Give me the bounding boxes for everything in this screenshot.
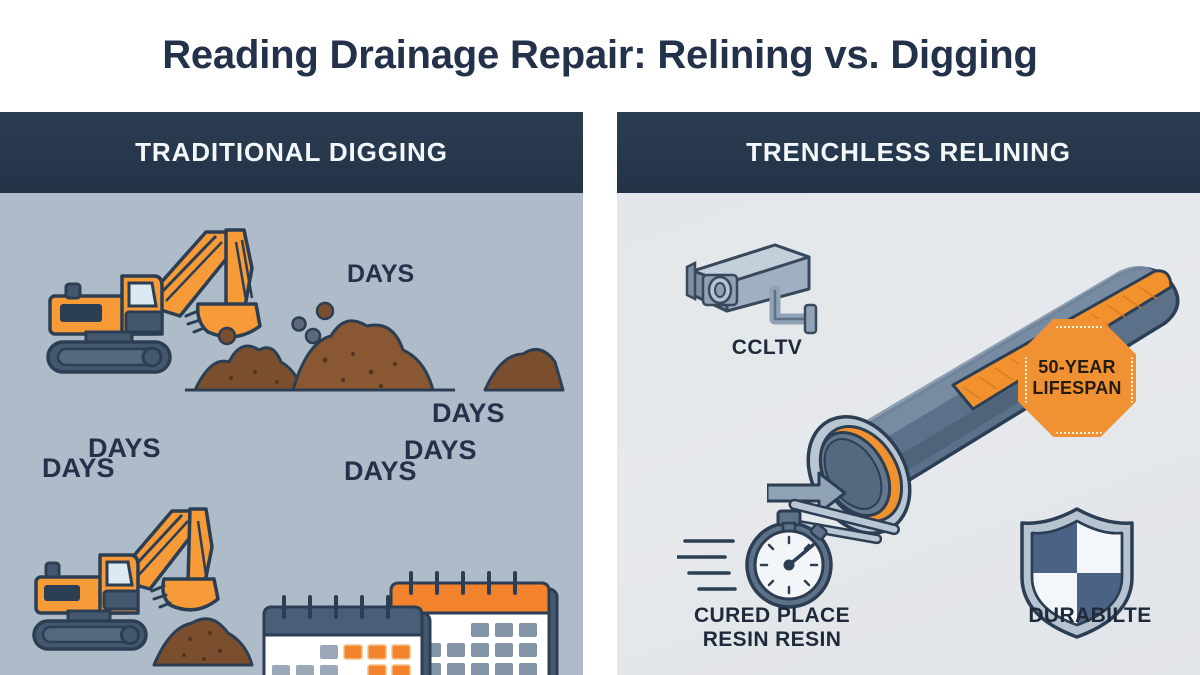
caption-durability: DURABILTE xyxy=(1000,604,1180,628)
panel-right-header-label: TRENCHLESS RELINING xyxy=(746,137,1071,168)
panel-left-header: TRADITIONAL DIGGING xyxy=(0,112,583,193)
panel-trenchless-relining: TRENCHLESS RELINING xyxy=(617,112,1200,675)
caption-cctv: CCLTV xyxy=(702,336,832,360)
lifespan-badge-line1: 50-YEAR xyxy=(1038,357,1115,378)
panel-right-body: 50-YEAR LIFESPAN xyxy=(617,193,1200,675)
days-label: DAYS xyxy=(347,262,414,287)
dirt-mound-small-icon xyxy=(148,603,258,671)
infographic-root: Reading Drainage Repair: Relining vs. Di… xyxy=(0,0,1200,675)
panel-right-header: TRENCHLESS RELINING xyxy=(617,112,1200,193)
days-label: DAYS xyxy=(344,458,417,485)
dirt-mound-calendar-icon xyxy=(380,668,490,675)
days-label: DAYS xyxy=(42,455,115,482)
calendar-navy-icon xyxy=(258,591,436,675)
panel-divider xyxy=(583,112,617,675)
panel-left-header-label: TRADITIONAL DIGGING xyxy=(135,137,448,168)
page-title: Reading Drainage Repair: Relining vs. Di… xyxy=(162,33,1038,78)
dirt-mounds-top-icon xyxy=(185,298,565,403)
panel-traditional-digging: TRADITIONAL DIGGING xyxy=(0,112,583,675)
days-label: DAYS xyxy=(432,400,505,427)
lifespan-badge-line2: LIFESPAN xyxy=(1032,378,1121,399)
caption-cipp: CURED PLACE RESIN RESIN xyxy=(672,604,872,652)
title-bar: Reading Drainage Repair: Relining vs. Di… xyxy=(0,0,1200,110)
